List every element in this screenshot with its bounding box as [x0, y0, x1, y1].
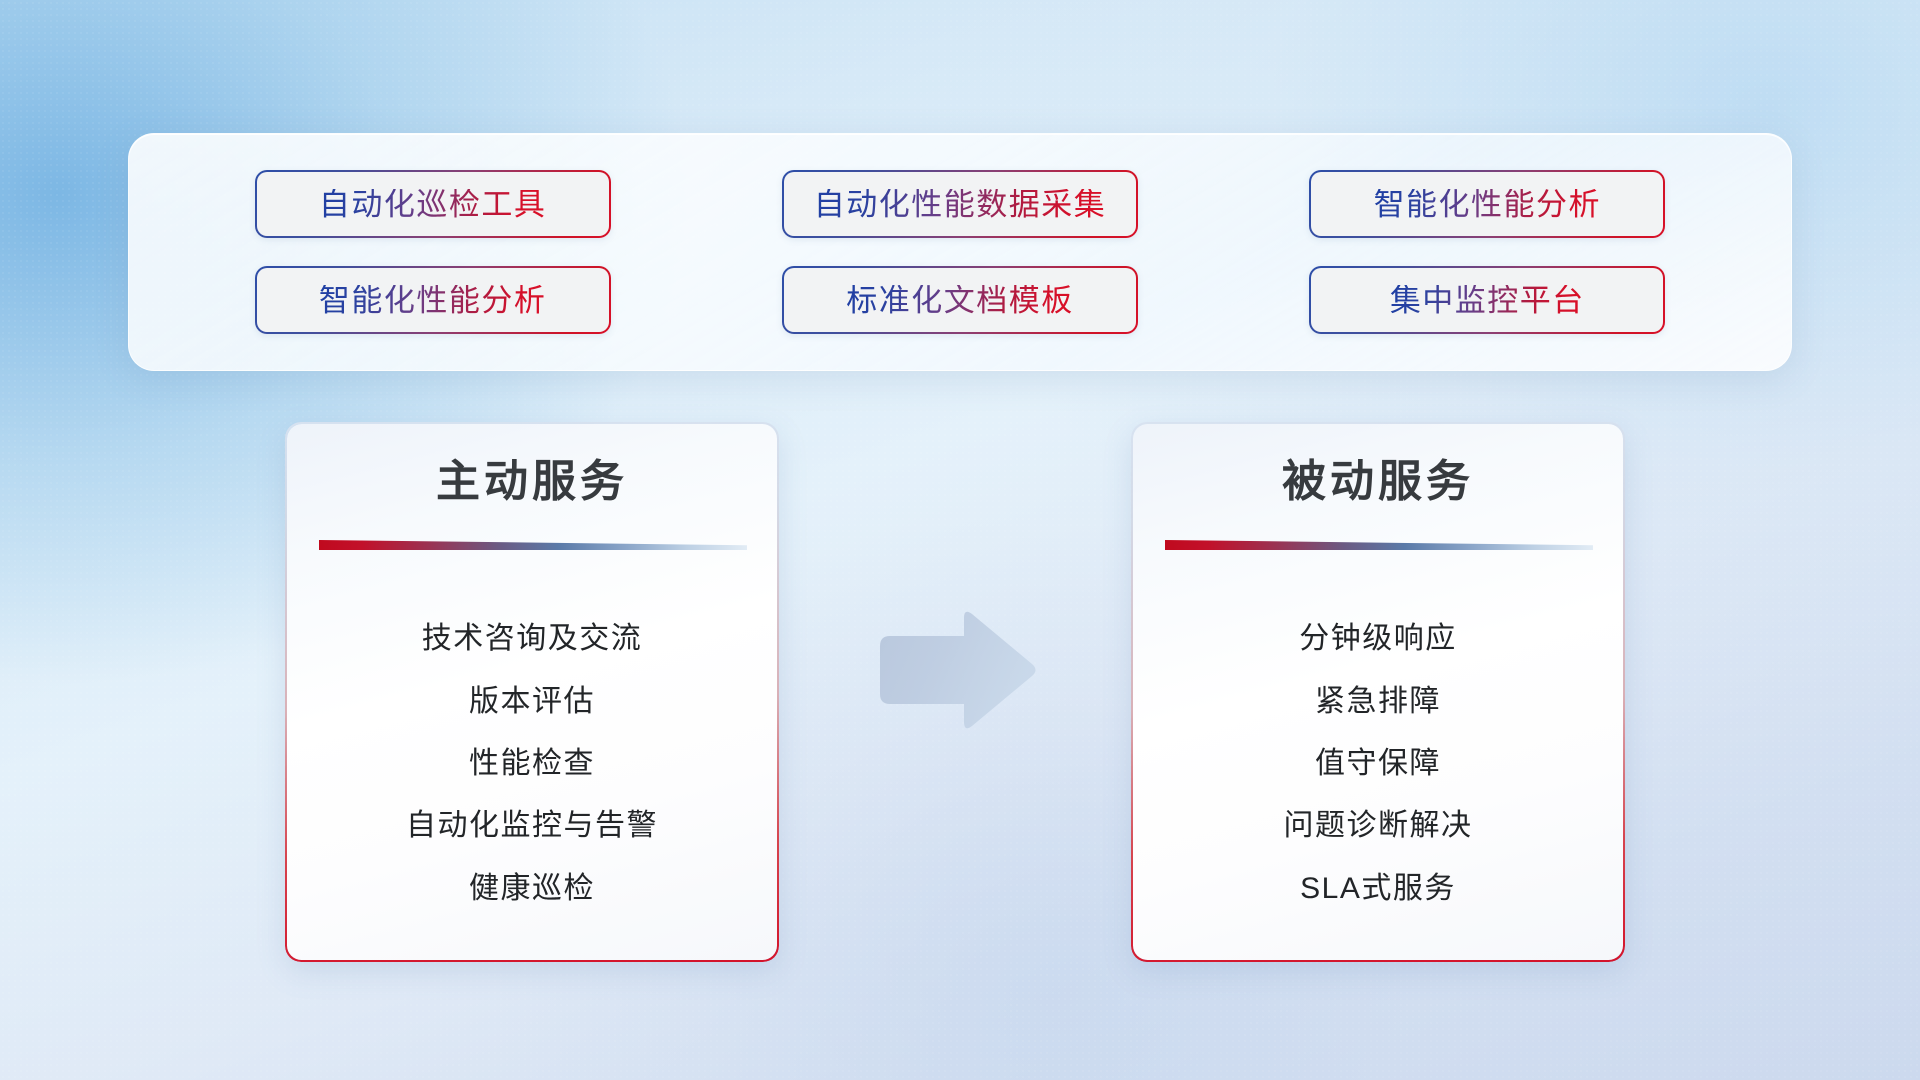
list-item: 分钟级响应 [1299, 624, 1457, 654]
list-item: 技术咨询及交流 [422, 624, 643, 654]
list-item: 紧急排障 [1315, 687, 1441, 717]
chip-label: 智能化性能分析 [319, 285, 547, 316]
list-item: 自动化监控与告警 [406, 811, 658, 841]
card-divider [1165, 540, 1593, 550]
capability-chip-grid: 自动化巡检工具 自动化性能数据采集 智能化性能分析 智能化性能分析 标准化文档模… [129, 134, 1791, 370]
chip-label: 自动化巡检工具 [319, 189, 547, 220]
card-title: 主动服务 [287, 458, 777, 506]
chip-automation-performance-data-collection[interactable]: 自动化性能数据采集 [782, 170, 1138, 238]
reactive-service-card[interactable]: 被动服务 分钟级响应 紧急排障 值守保障 问题诊断解决 SLA式服务 [1132, 423, 1624, 961]
arrow-right-icon [872, 610, 1038, 730]
chip-label: 集中监控平台 [1390, 285, 1585, 316]
chip-label: 智能化性能分析 [1374, 189, 1602, 220]
slide-canvas: 自动化巡检工具 自动化性能数据采集 智能化性能分析 智能化性能分析 标准化文档模… [0, 0, 1920, 1080]
proactive-service-card[interactable]: 主动服务 技术咨询及交流 版本评估 性能检查 自动化监控与告警 健康巡检 [286, 423, 778, 961]
chip-intelligent-performance-analysis-bottom[interactable]: 智能化性能分析 [255, 266, 611, 334]
chip-intelligent-performance-analysis-top[interactable]: 智能化性能分析 [1309, 170, 1665, 238]
proactive-service-list: 技术咨询及交流 版本评估 性能检查 自动化监控与告警 健康巡检 [287, 582, 777, 942]
list-item: 值守保障 [1315, 749, 1441, 779]
list-item: SLA式服务 [1300, 874, 1456, 904]
list-item: 性能检查 [469, 749, 595, 779]
card-divider [319, 540, 747, 550]
chip-label: 标准化文档模板 [846, 285, 1074, 316]
chip-label: 自动化性能数据采集 [814, 189, 1107, 220]
capability-chip-panel: 自动化巡检工具 自动化性能数据采集 智能化性能分析 智能化性能分析 标准化文档模… [128, 133, 1792, 371]
reactive-service-list: 分钟级响应 紧急排障 值守保障 问题诊断解决 SLA式服务 [1133, 582, 1623, 942]
list-item: 版本评估 [469, 687, 595, 717]
list-item: 问题诊断解决 [1284, 811, 1473, 841]
card-title: 被动服务 [1133, 458, 1623, 506]
chip-centralized-monitoring-platform[interactable]: 集中监控平台 [1309, 266, 1665, 334]
list-item: 健康巡检 [469, 874, 595, 904]
chip-standardized-document-template[interactable]: 标准化文档模板 [782, 266, 1138, 334]
chip-automation-inspection-tool[interactable]: 自动化巡检工具 [255, 170, 611, 238]
